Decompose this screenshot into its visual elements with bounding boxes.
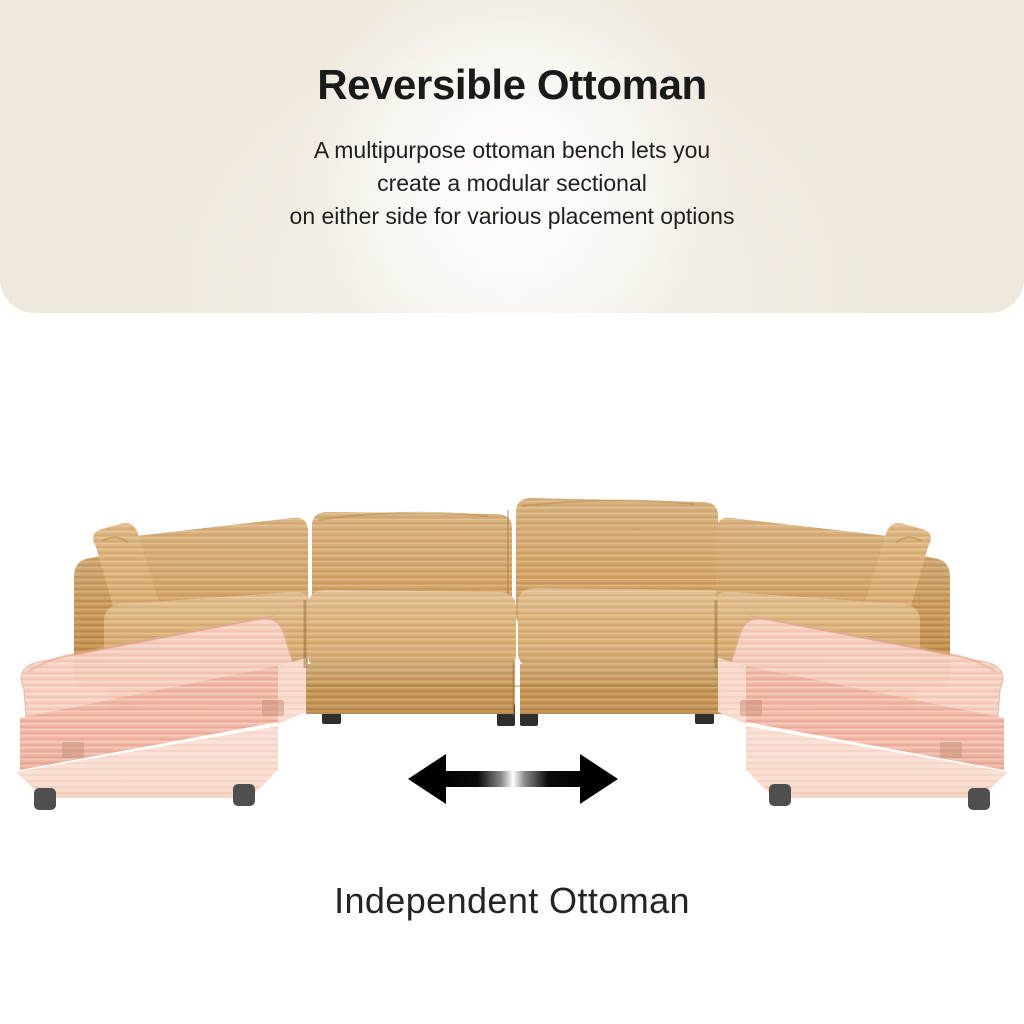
product-caption: Independent Ottoman bbox=[0, 880, 1024, 922]
product-illustration bbox=[0, 0, 1024, 1024]
reversible-direction-arrow bbox=[404, 748, 622, 810]
ottoman-left-highlighted bbox=[16, 616, 306, 810]
sectional-sofa-diagram bbox=[0, 0, 1024, 1024]
ottoman-right-highlighted bbox=[718, 616, 1008, 810]
sofa-module-center bbox=[306, 498, 728, 716]
double-arrow-icon bbox=[404, 748, 622, 810]
